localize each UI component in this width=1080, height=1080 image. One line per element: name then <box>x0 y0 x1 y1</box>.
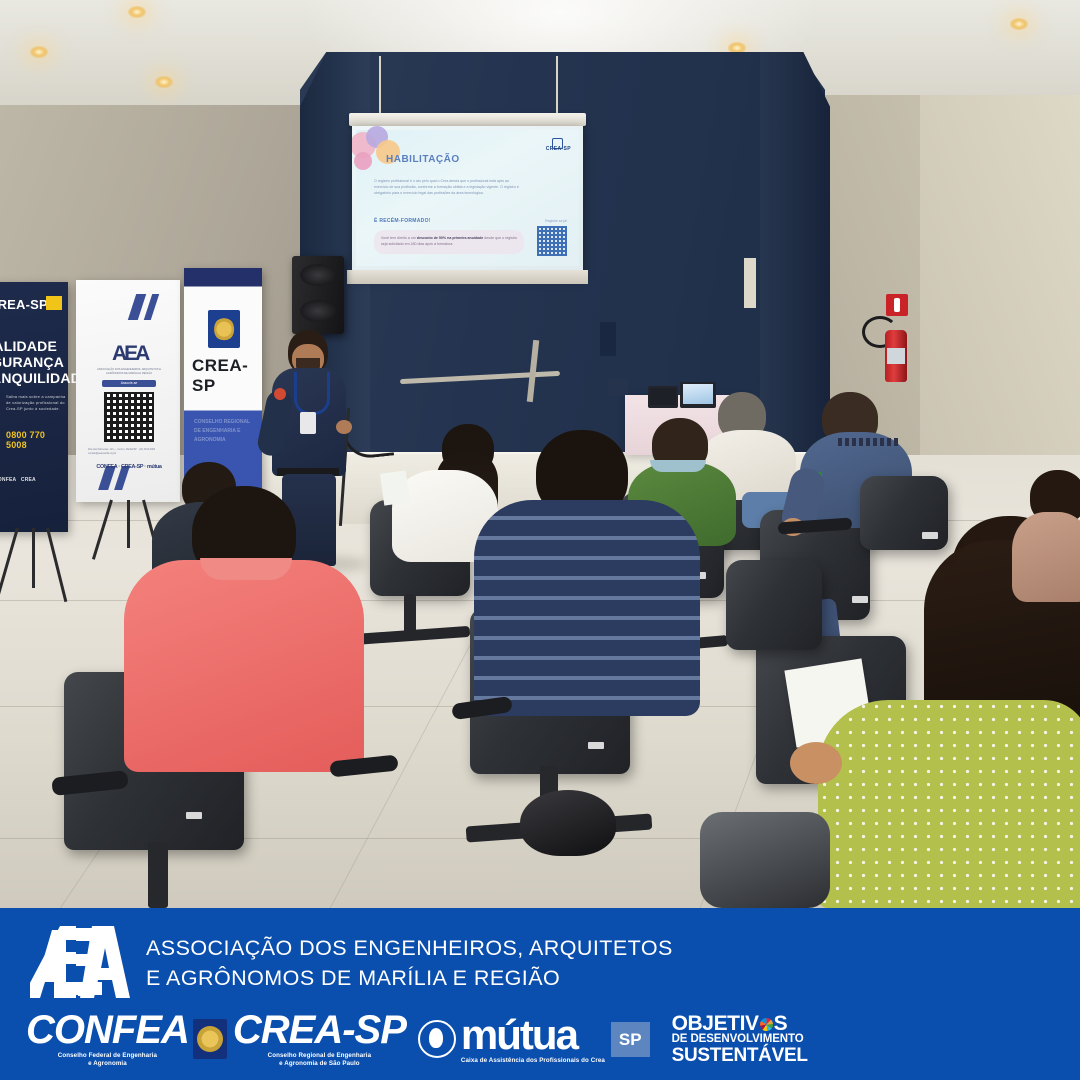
mutua-tagline: Caixa de Assistência dos Profissionais d… <box>461 1057 605 1065</box>
banner-brand: CREA-SP <box>0 298 48 313</box>
chair-stem <box>148 842 168 908</box>
mutua-badge-icon <box>418 1020 456 1058</box>
banner-subcopy: Saiba mais sobre a campanha de valorizaç… <box>6 394 68 412</box>
fire-extinguisher-sign-icon <box>886 294 908 316</box>
event-photo: CREA-SP HABILITAÇÃO O registro profissio… <box>0 0 1080 908</box>
slide-subtitle: É RECÉM-FORMADO! <box>374 218 431 224</box>
highlight-prefix: Você tem direito a um <box>381 236 416 240</box>
confea-tagline: Conselho Federal de Engenharia e Agronom… <box>26 1052 189 1068</box>
aea-logo-icon <box>30 924 142 1000</box>
slide-highlight-text: Você tem direito a um desconto de 50% na… <box>381 235 519 247</box>
partner-logos: CONFEA Conselho Federal de Engenharia e … <box>26 1008 808 1070</box>
slide-qr-code <box>537 226 567 256</box>
chair-brand-tag <box>852 596 868 603</box>
banner-accent <box>46 296 62 310</box>
crea-sp-tagline: Conselho Regional de Engenharia e Agrono… <box>233 1052 406 1068</box>
footer-branding-bar: ASSOCIAÇÃO DOS ENGENHEIROS, ARQUITETOS E… <box>0 908 1080 1080</box>
association-name: ASSOCIAÇÃO DOS ENGENHEIROS, ARQUITETOS E… <box>146 933 673 993</box>
attendee-torso <box>474 500 700 716</box>
accent-wall-right-bevel <box>760 52 830 472</box>
banner-phone: 0800 770 5008 <box>6 430 68 450</box>
chair <box>726 560 822 650</box>
slide-highlight-box: Você tem direito a um desconto de 50% na… <box>374 230 524 254</box>
ods-logo: OBJETIVS DE DESENVOLVIMENTO SUSTENTÁVEL <box>672 1013 808 1066</box>
slide: CREA-SP HABILITAÇÃO O registro profissio… <box>356 130 579 266</box>
confea-logo: CONFEA Conselho Federal de Engenharia e … <box>26 1010 231 1068</box>
ceiling-spotlight <box>128 6 146 18</box>
banner-crea-flag-text: CONSELHO REGIONAL DE ENGENHARIA E AGRONO… <box>194 418 254 445</box>
banner-aea-qr-code <box>104 392 154 442</box>
ceiling-spotlight <box>30 46 48 58</box>
banner-decor-stripe <box>128 294 146 320</box>
presenter-lanyard <box>294 372 330 415</box>
slide-qr-label: Registre-se já! <box>545 219 567 223</box>
chair-brand-tag <box>588 742 604 749</box>
presenter-badge <box>300 412 316 434</box>
wall-panel <box>608 378 628 396</box>
banner-aea-monogram: AEA <box>112 342 146 366</box>
attendee-collar <box>200 558 292 580</box>
banner-aea-qr-caption: Associe-se <box>102 380 156 387</box>
slide-body: O registro profissional é o ato pelo qua… <box>374 178 524 197</box>
presenter-hand <box>336 420 352 434</box>
ceiling-spotlight <box>155 76 173 88</box>
slide-brand: CREA-SP <box>546 146 571 152</box>
attendee-torso <box>1012 512 1080 602</box>
screen-case <box>349 113 586 126</box>
ods-line1: OBJETIVS <box>672 1013 808 1034</box>
fire-extinguisher <box>885 330 907 382</box>
attendee-collar <box>650 460 706 472</box>
crea-sp-wordmark: CREA-SP <box>233 1010 406 1050</box>
banner-aea-subtitle: ASSOCIAÇÃO DOS ENGENHEIROS, ARQUITETOS E… <box>94 368 164 376</box>
social-post-image: CREA-SP HABILITAÇÃO O registro profissio… <box>0 0 1080 1080</box>
attendee-torso <box>124 560 364 772</box>
door-jamb <box>744 258 756 308</box>
banner-decor-stripe <box>144 294 159 320</box>
projection-screen: CREA-SP HABILITAÇÃO O registro profissio… <box>352 126 583 276</box>
confea-wordmark: CONFEA <box>26 1010 189 1050</box>
ods-color-wheel-icon <box>760 1018 773 1031</box>
attendee-hand <box>790 742 842 784</box>
laptop-screen <box>650 388 676 405</box>
screen-wire <box>379 56 381 114</box>
banner-aea-partner-logos: CONFEA · CREA-SP · mútua <box>86 464 172 470</box>
wall-panel <box>600 322 616 356</box>
slide-title: HABILITAÇÃO <box>386 154 460 165</box>
banner-aea-contact: Rua das Palmeiras, 123 — Centro, Marília… <box>88 448 170 457</box>
helmet <box>520 790 616 856</box>
attendee-paper <box>380 470 410 505</box>
confea-seal-icon <box>193 1019 227 1059</box>
loudspeaker <box>292 256 344 334</box>
attendee-uniform-text <box>838 438 900 446</box>
slide-decor-blob <box>354 152 372 170</box>
chair-brand-tag <box>186 812 202 819</box>
attendee-torso <box>818 700 1080 908</box>
banner-logos: CONFEA CREA <box>0 478 36 484</box>
banner-crea-wordmark: CREA-SP <box>192 356 262 396</box>
crea-sp-logo: CREA-SP Conselho Regional de Engenharia … <box>233 1010 406 1068</box>
ceiling-spotlight <box>1010 18 1028 30</box>
ods-line3: SUSTENTÁVEL <box>672 1046 808 1065</box>
highlight-bold: desconto de 50% na primeira anuidade <box>417 236 484 240</box>
laptop-screen <box>683 384 713 404</box>
ods-line1-text: OBJETIV <box>672 1012 759 1035</box>
presenter-logo-patch <box>274 388 286 400</box>
attendee-bag <box>700 812 830 908</box>
mutua-wordmark: mútua <box>461 1014 605 1056</box>
chair-brand-tag <box>922 532 938 539</box>
banner-crea-campanha: CREA-SP QUALIDADE SEGURANÇA TRANQUILIDAD… <box>0 282 68 532</box>
banner-aea: AEA ASSOCIAÇÃO DOS ENGENHEIROS, ARQUITET… <box>76 280 180 502</box>
crea-sp-seal-icon <box>208 310 240 348</box>
mutua-logo: mútua Caixa de Assistência dos Profissio… <box>418 1014 650 1065</box>
screen-wire <box>556 56 558 114</box>
screen-bottom-bar <box>347 270 588 284</box>
ods-line1-end: S <box>774 1012 788 1035</box>
mutua-sp-chip: SP <box>611 1022 650 1057</box>
